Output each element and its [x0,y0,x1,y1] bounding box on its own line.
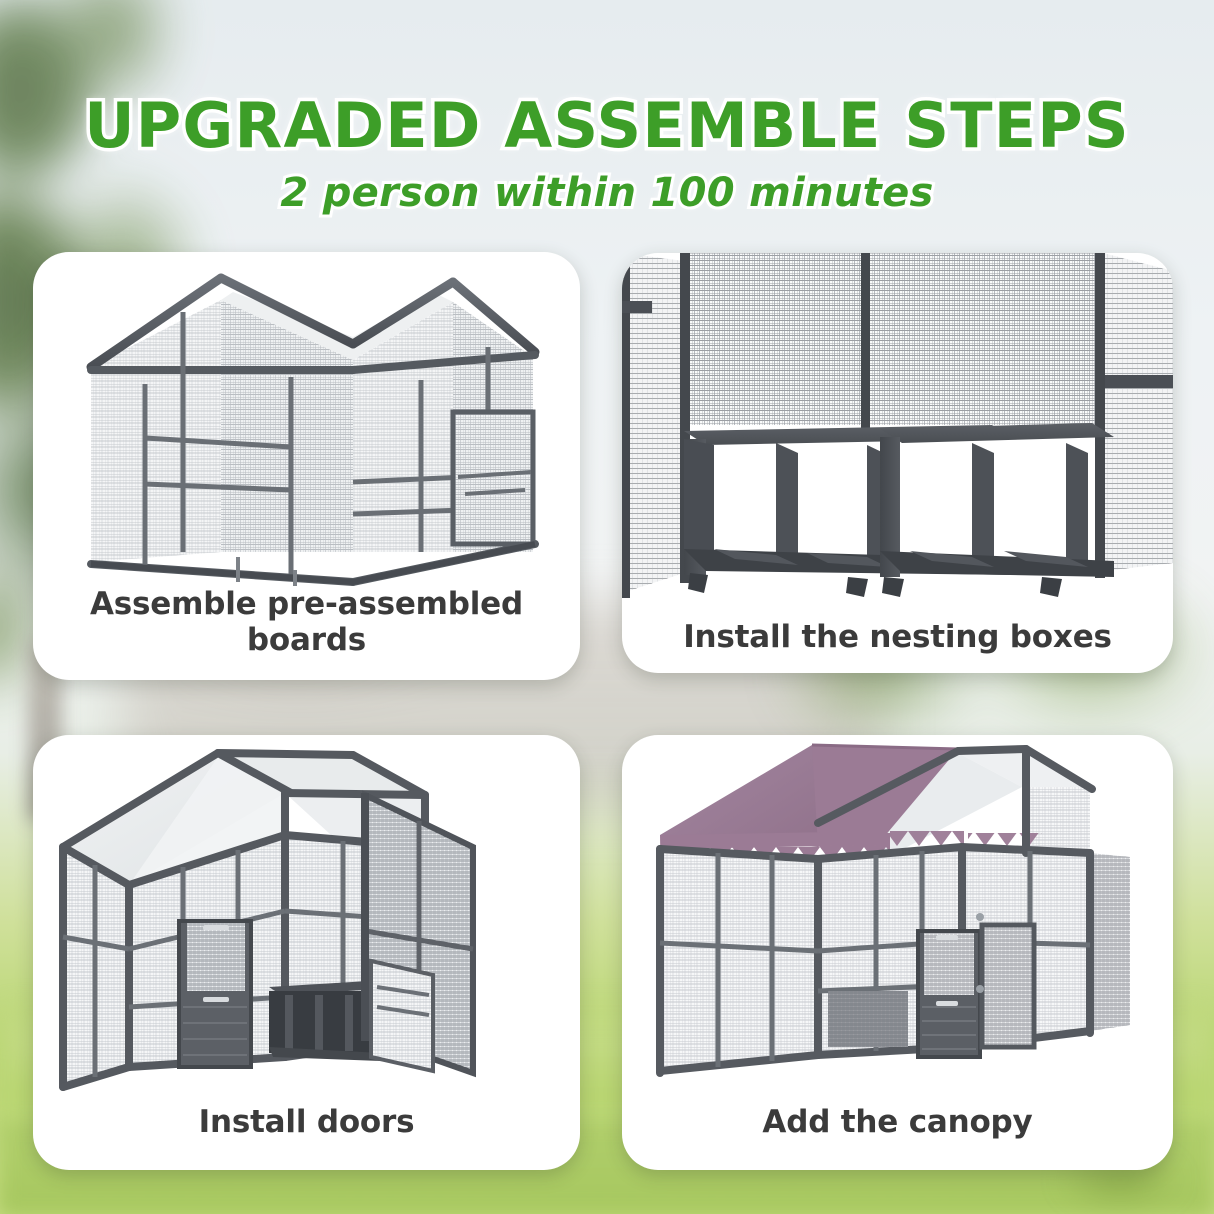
step-3-caption: Install doors [33,1105,580,1140]
header: UPGRADED ASSEMBLE STEPS 2 person within … [0,0,1214,213]
step-1-caption: Assemble pre-assembled boards [33,587,580,658]
step-card-4: Add the canopy [622,735,1173,1170]
step-2-illustration [622,253,1173,673]
step-1-caption-line-1: Assemble pre-assembled [33,587,580,622]
step-card-2: Install the nesting boxes [622,253,1173,673]
step-3-caption-line-1: Install doors [33,1105,580,1140]
step-1-caption-line-2: boards [33,623,580,658]
step-card-3: Install doors [33,735,580,1170]
step-2-caption: Install the nesting boxes [622,620,1173,655]
step-4-caption-line-1: Add the canopy [622,1105,1173,1140]
step-2-caption-line-1: Install the nesting boxes [622,620,1173,655]
step-card-1: Assemble pre-assembled boards [33,252,580,680]
steps-grid: Assemble pre-assembled boards [33,252,1173,1182]
step-4-caption: Add the canopy [622,1105,1173,1140]
page-subtitle: 2 person within 100 minutes [0,157,1214,213]
page-title: UPGRADED ASSEMBLE STEPS [0,0,1214,157]
